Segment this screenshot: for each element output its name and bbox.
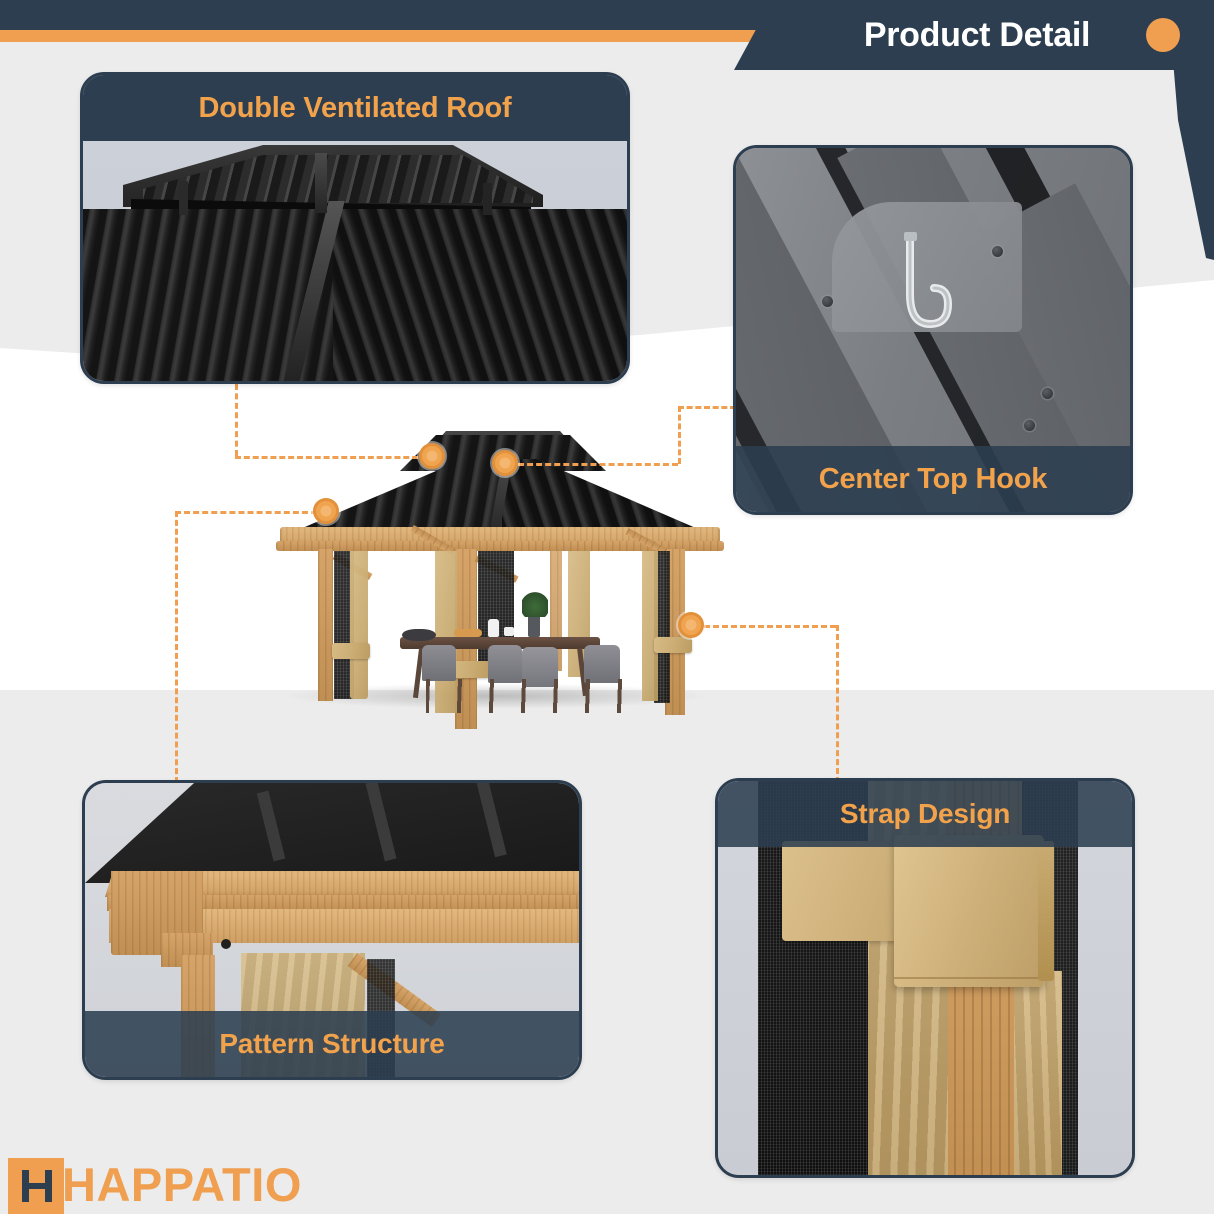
infographic-canvas: Product Detail — [0, 0, 1214, 1214]
connector-roof-horizontal — [235, 456, 427, 459]
header-panel: Product Detail — [714, 0, 1214, 70]
accent-dot-icon — [1146, 18, 1180, 52]
dining-chair-4 — [584, 645, 620, 683]
strap-band-rear — [782, 841, 898, 941]
vent-post-right — [483, 183, 492, 215]
center-hook-icon — [876, 228, 956, 368]
cornice-screw — [221, 939, 231, 949]
roof-panel-right — [333, 209, 627, 381]
strap-band-front — [894, 835, 1044, 987]
card-double-ventilated-roof[interactable]: Double Ventilated Roof — [80, 72, 630, 384]
marker-post-strap-icon — [678, 612, 704, 638]
card-pattern-label-bar: Pattern Structure — [85, 1011, 579, 1077]
connector-strap-horizontal — [704, 625, 836, 628]
connector-hook-vertical — [678, 406, 681, 464]
roof-screw-3 — [1042, 388, 1053, 399]
dining-chair-1 — [422, 645, 456, 681]
tableware-pitcher — [488, 619, 499, 637]
card-hook-label: Center Top Hook — [819, 463, 1047, 496]
roof-main-right — [502, 459, 712, 535]
strap-stitch-line — [894, 977, 1044, 979]
roof-screw-2 — [992, 246, 1003, 257]
potted-plant — [522, 591, 548, 617]
marker-eave-pattern-icon — [313, 498, 339, 524]
vent-post-center — [315, 153, 327, 213]
tableware-vase — [528, 615, 540, 637]
card-roof-label: Double Ventilated Roof — [199, 92, 512, 125]
card-roof-label-bar: Double Ventilated Roof — [83, 75, 627, 141]
h-monogram-icon — [22, 1170, 52, 1202]
curtain-strap-left — [332, 643, 370, 659]
card-center-top-hook[interactable]: Center Top Hook — [733, 145, 1133, 515]
food-platter — [454, 629, 482, 637]
connector-strap-vertical — [836, 625, 839, 783]
brand-logo: HAPPATIO — [0, 1140, 430, 1214]
roof-main-left — [286, 459, 502, 535]
card-strap-label-bar: Strap Design — [718, 781, 1132, 847]
fabric-curtain-left — [350, 551, 368, 699]
card-strap-label: Strap Design — [840, 798, 1010, 830]
roof-screw-1 — [822, 296, 833, 307]
card-hook-label-bar: Center Top Hook — [736, 446, 1130, 512]
tableware-cup — [504, 627, 514, 636]
curtain-strap-right — [654, 637, 692, 653]
roof-screw-4 — [1024, 420, 1035, 431]
brand-name: HAPPATIO — [62, 1161, 302, 1208]
marker-roof-vent-icon — [419, 443, 445, 469]
card-pattern-structure[interactable]: Pattern Structure — [82, 780, 582, 1080]
card-roof-photo — [83, 141, 627, 381]
card-pattern-label: Pattern Structure — [219, 1028, 444, 1060]
fabric-curtain-right-b — [642, 551, 658, 701]
gazebo-post-front-left — [318, 549, 333, 701]
marker-center-hook-icon — [492, 450, 518, 476]
connector-pattern-vertical — [175, 511, 178, 783]
connector-pattern-horizontal — [175, 511, 317, 514]
connector-roof-vertical — [235, 384, 238, 456]
vent-post-left — [179, 181, 188, 215]
dining-chair-2 — [488, 645, 522, 683]
strap-hook-loop — [1038, 841, 1054, 981]
page-title: Product Detail — [838, 16, 1090, 55]
strap-curtain-tail-right — [1014, 971, 1062, 1175]
connector-hook-horizontal — [518, 463, 678, 466]
chair-legs — [426, 679, 626, 713]
connector-hook-horizontal2 — [678, 406, 736, 409]
grill-bowl — [402, 629, 436, 641]
card-strap-design[interactable]: Strap Design — [715, 778, 1135, 1178]
